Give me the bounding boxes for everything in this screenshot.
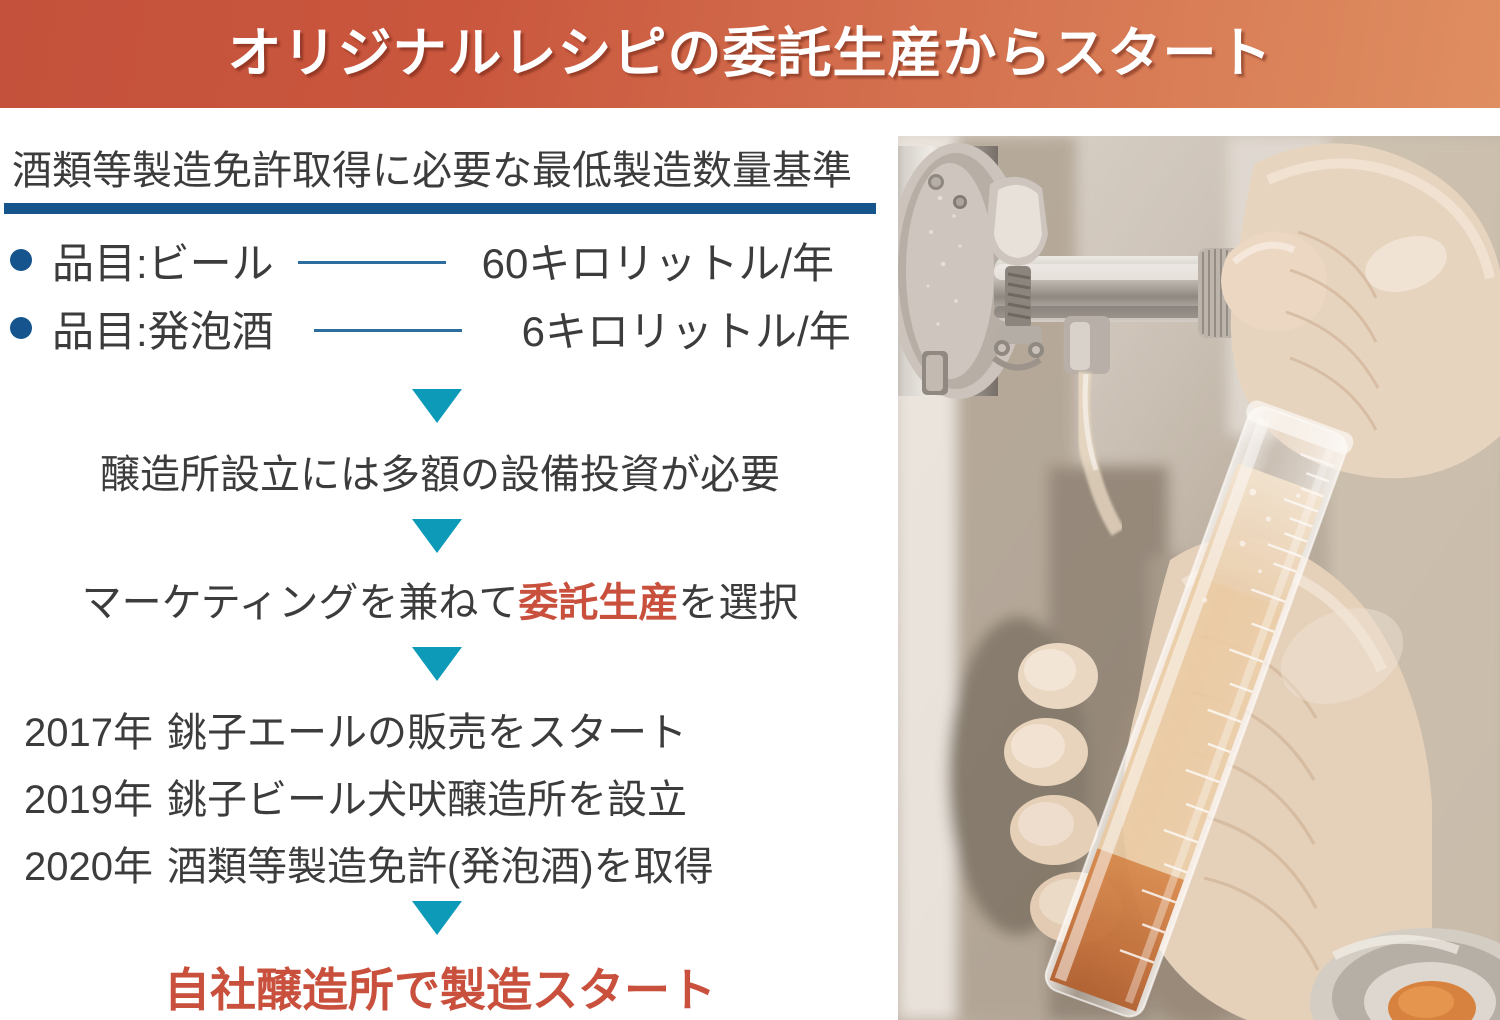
connector-line — [298, 261, 446, 264]
timeline-description: 銚子エールの販売をスタート — [167, 711, 687, 755]
connector-line — [314, 329, 462, 332]
criteria-item-label: 品目:ビール — [52, 230, 274, 291]
flow-text-before: マーケティングを兼ねて — [82, 581, 519, 625]
timeline-row: 2019年銚子ビール犬吠醸造所を設立 — [24, 767, 884, 825]
down-arrow-icon — [412, 389, 462, 423]
criteria-item-label: 品目:発泡酒 — [52, 298, 274, 359]
timeline-year: 2020年 — [24, 845, 153, 889]
content-column: 酒類等製造免許取得に必要な最低製造数量基準 品目:ビール 60キロリットル/年 … — [0, 108, 890, 1020]
conclusion-text: 自社醸造所で製造スタート — [0, 954, 880, 1020]
timeline-row: 2020年酒類等製造免許(発泡酒)を取得 — [24, 834, 884, 892]
bullet-dot-icon — [10, 317, 32, 339]
flow-step-contract-manufacturing: マーケティングを兼ねて委託生産を選択 — [0, 570, 880, 628]
timeline-description: 酒類等製造免許(発泡酒)を取得 — [167, 845, 714, 889]
down-arrow-icon — [412, 901, 462, 935]
criteria-item-value: 60キロリットル/年 — [482, 230, 834, 291]
brewery-photo — [898, 136, 1500, 1020]
timeline-description: 銚子ビール犬吠醸造所を設立 — [167, 778, 687, 822]
down-arrow-icon — [412, 647, 462, 681]
criteria-item-value: 6キロリットル/年 — [522, 298, 851, 359]
flow-step-investment: 醸造所設立には多額の設備投資が必要 — [0, 442, 880, 500]
criteria-heading: 酒類等製造免許取得に必要な最低製造数量基準 — [12, 138, 852, 196]
flow-text-after: を選択 — [678, 581, 798, 625]
bullet-dot-icon — [10, 249, 32, 271]
page-title: オリジナルレシピの委託生産からスタート — [0, 26, 1500, 83]
flow-text-highlight: 委託生産 — [518, 581, 678, 625]
down-arrow-icon — [412, 519, 462, 553]
timeline-row: 2017年銚子エールの販売をスタート — [24, 700, 884, 758]
heading-underline-rule — [4, 203, 876, 214]
timeline-year: 2019年 — [24, 778, 153, 822]
header-band: オリジナルレシピの委託生産からスタート — [0, 0, 1500, 108]
timeline-year: 2017年 — [24, 711, 153, 755]
criteria-item-beer: 品目:ビール 60キロリットル/年 — [10, 228, 880, 292]
brewery-photo-illustration — [898, 136, 1500, 1020]
criteria-item-happoshu: 品目:発泡酒 6キロリットル/年 — [10, 296, 880, 360]
slide-root: オリジナルレシピの委託生産からスタート 酒類等製造免許取得に必要な最低製造数量基… — [0, 0, 1500, 1020]
